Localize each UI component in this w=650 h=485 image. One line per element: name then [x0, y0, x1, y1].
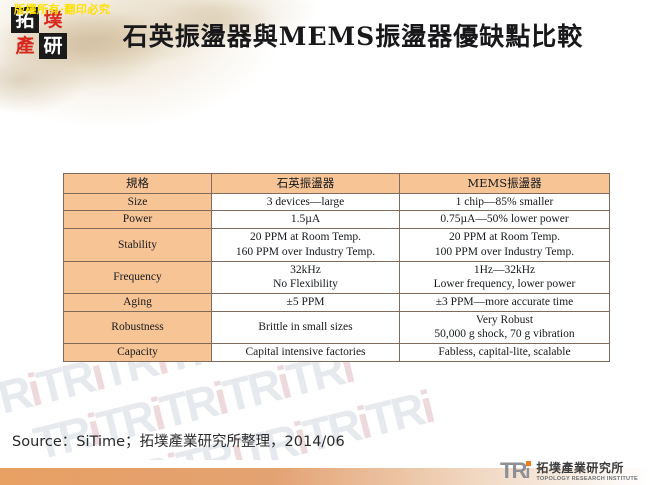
copyright-text: 版權所有‧翻印必究	[14, 1, 110, 17]
cell-line: 32kHz	[215, 263, 396, 278]
logo-char-yan: 研	[39, 33, 67, 59]
cell-line: Brittle in small sizes	[215, 320, 396, 335]
cell-line: 3 devices—large	[215, 195, 396, 210]
tri-mark-tr: TR	[500, 458, 525, 483]
slide-canvas: TRiTRiTRiTRiTRi TRiTRiTRiTRiTRi TRiTRiTR…	[0, 0, 650, 485]
tri-wordmark: TRi	[500, 460, 531, 482]
cell-quartz: ±5 PPM	[212, 294, 400, 312]
cell-quartz: 3 devices—large	[212, 193, 400, 211]
cell-mems: Very Robust50,000 g shock, 70 g vibratio…	[400, 311, 610, 343]
cell-mems: 0.75µA—50% lower power	[400, 211, 610, 229]
tri-brand-logo: TRi 拓墣產業研究所 TOPOLOGY RESEARCH INSTITUTE	[500, 460, 638, 482]
cell-quartz: 32kHzNo Flexibility	[212, 261, 400, 293]
cell-spec: Stability	[64, 229, 212, 261]
cell-line: 1Hz—32kHz	[403, 263, 606, 278]
cell-spec: Power	[64, 211, 212, 229]
comparison-table-wrapper: 規格 石英振盪器 MEMS振盪器 Size3 devices—large1 ch…	[63, 173, 609, 362]
source-note: Source：SiTime；拓墣產業研究所整理，2014/06	[12, 430, 345, 451]
col-header-quartz: 石英振盪器	[212, 174, 400, 194]
cell-quartz: 20 PPM at Room Temp.160 PPM over Industr…	[212, 229, 400, 261]
table-row: Stability20 PPM at Room Temp.160 PPM ove…	[64, 229, 610, 261]
cell-line: ±5 PPM	[215, 295, 396, 310]
cell-quartz: 1.5µA	[212, 211, 400, 229]
cell-line: 0.75µA—50% lower power	[403, 212, 606, 227]
cell-quartz: Capital intensive factories	[212, 344, 400, 362]
tri-name-block: 拓墣產業研究所 TOPOLOGY RESEARCH INSTITUTE	[536, 462, 638, 482]
cell-line: Fabless, capital-lite, scalable	[403, 345, 606, 360]
cell-line: 50,000 g shock, 70 g vibration	[403, 327, 606, 342]
table-row: Aging±5 PPM±3 PPM—more accurate time	[64, 294, 610, 312]
cell-line: ±3 PPM—more accurate time	[403, 295, 606, 310]
cell-line: Very Robust	[403, 313, 606, 328]
table-header-row: 規格 石英振盪器 MEMS振盪器	[64, 174, 610, 194]
tri-name-cn: 拓墣產業研究所	[536, 462, 624, 475]
page-title: 石英振盪器與MEMS振盪器優缺點比較	[78, 22, 628, 52]
cell-spec: Size	[64, 193, 212, 211]
cell-spec: Capacity	[64, 344, 212, 362]
cell-line: 1.5µA	[215, 212, 396, 227]
table-body: Size3 devices—large1 chip—85% smallerPow…	[64, 193, 610, 361]
cell-line: Capital intensive factories	[215, 345, 396, 360]
cell-line: 160 PPM over Industry Temp.	[215, 245, 396, 260]
col-header-mems: MEMS振盪器	[400, 174, 610, 194]
table-row: CapacityCapital intensive factoriesFable…	[64, 344, 610, 362]
cell-line: 20 PPM at Room Temp.	[215, 230, 396, 245]
cell-line: 100 PPM over Industry Temp.	[403, 245, 606, 260]
cell-quartz: Brittle in small sizes	[212, 311, 400, 343]
tri-accent-dot-icon	[526, 461, 531, 466]
cell-mems: Fabless, capital-lite, scalable	[400, 344, 610, 362]
table-head: 規格 石英振盪器 MEMS振盪器	[64, 174, 610, 194]
cell-mems: ±3 PPM—more accurate time	[400, 294, 610, 312]
cell-mems: 1 chip—85% smaller	[400, 193, 610, 211]
cell-line: No Flexibility	[215, 277, 396, 292]
cell-line: Lower frequency, lower power	[403, 277, 606, 292]
cell-spec: Aging	[64, 294, 212, 312]
table-row: Power1.5µA0.75µA—50% lower power	[64, 211, 610, 229]
cell-spec: Frequency	[64, 261, 212, 293]
cell-line: 20 PPM at Room Temp.	[403, 230, 606, 245]
table-row: RobustnessBrittle in small sizesVery Rob…	[64, 311, 610, 343]
comparison-table: 規格 石英振盪器 MEMS振盪器 Size3 devices—large1 ch…	[63, 173, 610, 362]
cell-mems: 1Hz—32kHzLower frequency, lower power	[400, 261, 610, 293]
table-row: Frequency32kHzNo Flexibility1Hz—32kHzLow…	[64, 261, 610, 293]
cell-spec: Robustness	[64, 311, 212, 343]
cell-line: 1 chip—85% smaller	[403, 195, 606, 210]
cell-mems: 20 PPM at Room Temp.100 PPM over Industr…	[400, 229, 610, 261]
logo-char-chan: 產	[11, 33, 39, 59]
table-row: Size3 devices—large1 chip—85% smaller	[64, 193, 610, 211]
tri-name-en: TOPOLOGY RESEARCH INSTITUTE	[536, 476, 638, 482]
col-header-spec: 規格	[64, 174, 212, 194]
